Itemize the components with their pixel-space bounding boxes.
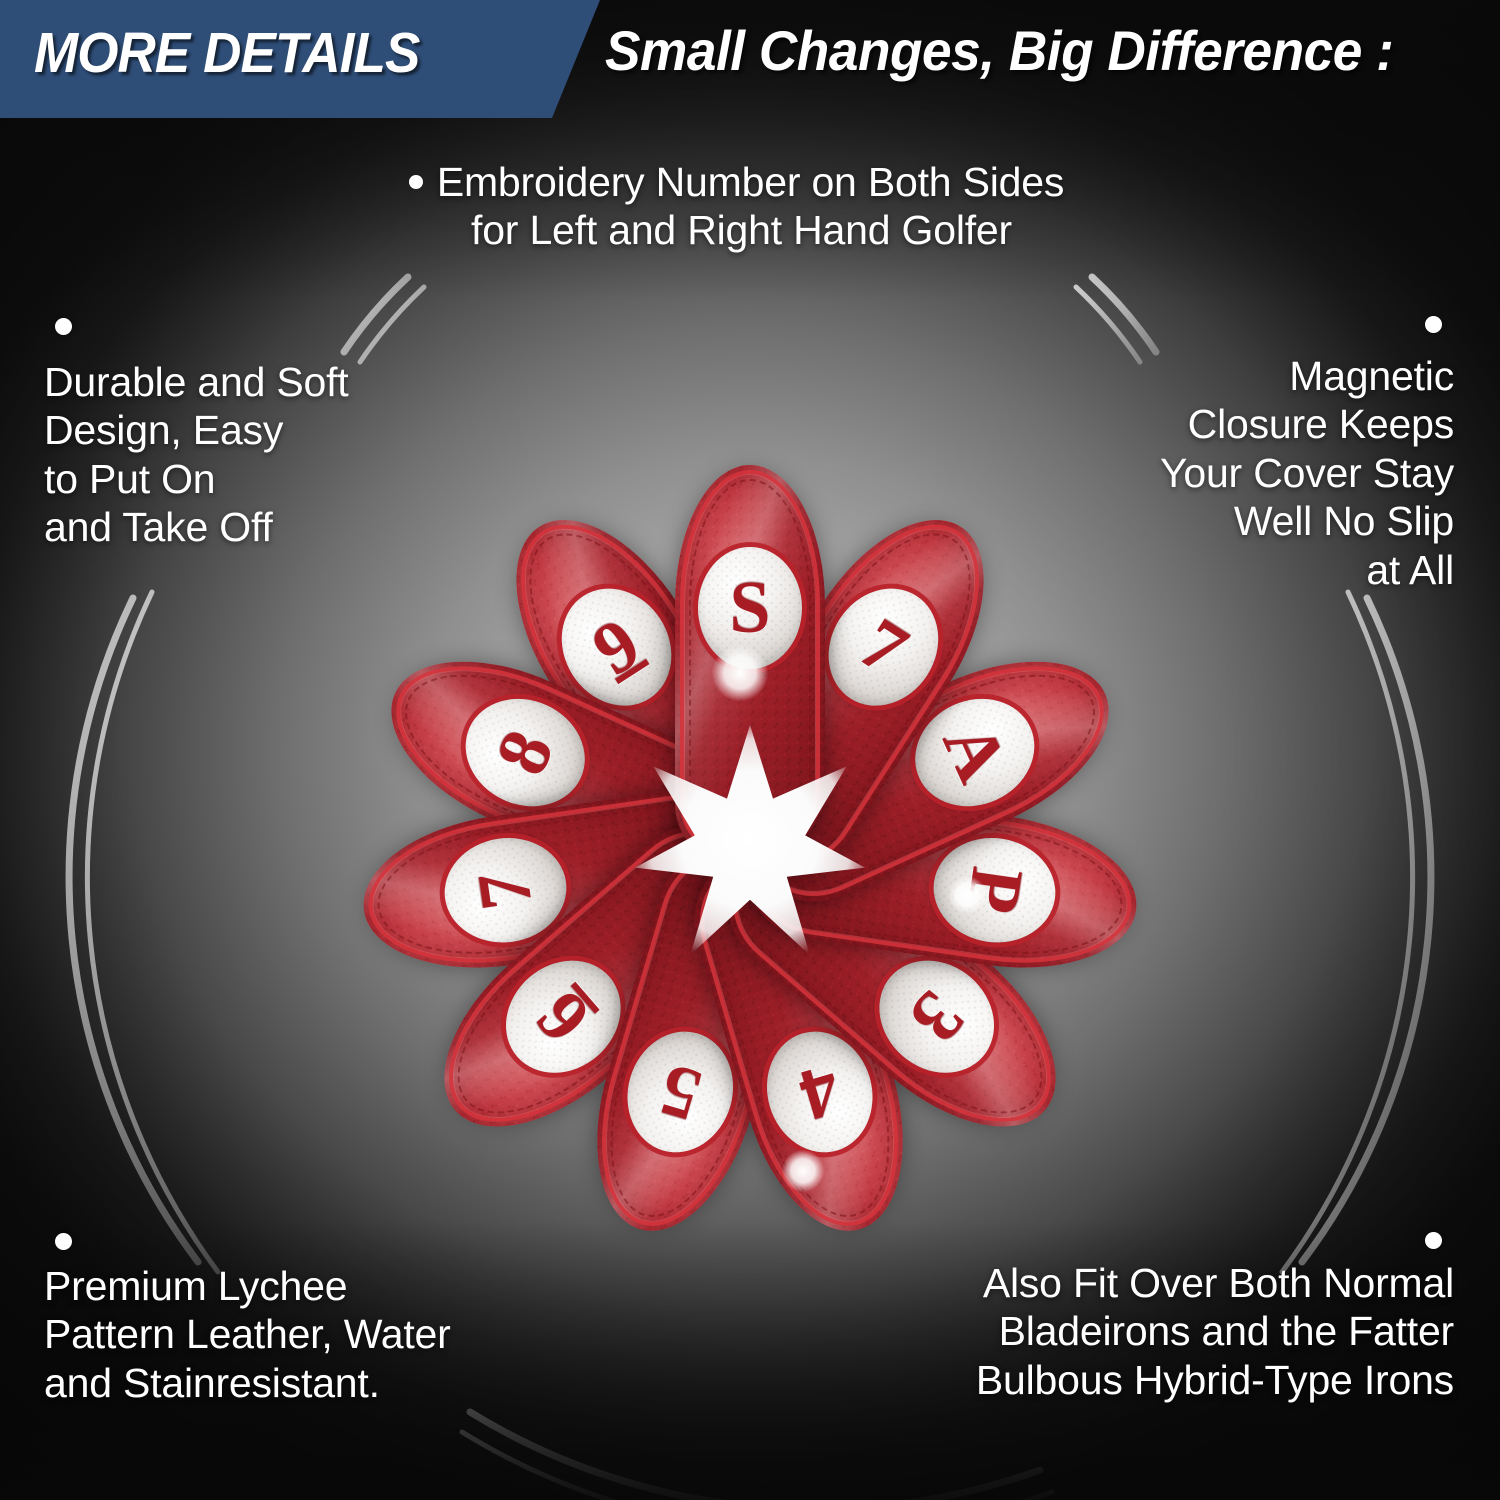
bullet-dot-icon-bottom-right xyxy=(1425,1232,1442,1249)
bullet-dot-icon xyxy=(409,175,423,189)
callout-bottom-left-line-1: Premium Lychee xyxy=(44,1262,451,1310)
callout-bottom-right-line-1: Also Fit Over Both Normal xyxy=(976,1259,1454,1307)
callout-top-left: Durable and Soft Design, Easy to Put On … xyxy=(44,358,349,552)
more-details-label: MORE DETAILS xyxy=(34,20,419,86)
headcover-s: S xyxy=(675,465,825,855)
product-detail-image: S7AP3456789 MORE DETAILS Small Changes, … xyxy=(0,0,1500,1500)
embroidery-badge: S xyxy=(698,547,802,669)
callout-top-right: Magnetic Closure Keeps Your Cover Stay W… xyxy=(1160,352,1454,594)
callout-top-right-line-4: Well No Slip xyxy=(1160,497,1454,545)
bullet-dot-icon-bottom-left xyxy=(55,1233,72,1250)
callout-bottom-left: Premium Lychee Pattern Leather, Water an… xyxy=(44,1262,451,1407)
callout-bottom-right-line-2: Bladeirons and the Fatter xyxy=(976,1307,1454,1355)
headcover-number-label: S xyxy=(729,571,770,645)
callout-bottom-left-line-3: and Stainresistant. xyxy=(44,1359,451,1407)
callout-top-left-line-2: Design, Easy xyxy=(44,406,349,454)
callout-bottom-left-line-2: Pattern Leather, Water xyxy=(44,1310,451,1358)
callout-top-right-line-5: at All xyxy=(1160,546,1454,594)
callout-top-right-line-1: Magnetic xyxy=(1160,352,1454,400)
callout-top-left-line-3: to Put On xyxy=(44,455,349,503)
callout-top-right-line-3: Your Cover Stay xyxy=(1160,449,1454,497)
header-bar: MORE DETAILS Small Changes, Big Differen… xyxy=(0,0,1500,118)
callout-top-left-line-4: and Take Off xyxy=(44,503,349,551)
callout-top-right-line-2: Closure Keeps xyxy=(1160,400,1454,448)
callout-bottom-right: Also Fit Over Both Normal Bladeirons and… xyxy=(976,1259,1454,1404)
bullet-dot-icon-top-right xyxy=(1425,316,1442,333)
bullet-dot-icon-top-left xyxy=(55,318,72,335)
callout-top-left-line-1: Durable and Soft xyxy=(44,358,349,406)
callout-top-line-2: for Left and Right Hand Golfer xyxy=(344,206,1139,254)
headcover-number-label: P xyxy=(955,863,1035,918)
callout-top-line-1: Embroidery Number on Both Sides xyxy=(437,159,1064,205)
callout-top: Embroidery Number on Both Sides for Left… xyxy=(344,158,1139,255)
callout-bottom-right-line-3: Bulbous Hybrid-Type Irons xyxy=(976,1356,1454,1404)
header-subtitle: Small Changes, Big Difference : xyxy=(605,18,1393,83)
headcover-body: S xyxy=(675,465,825,855)
